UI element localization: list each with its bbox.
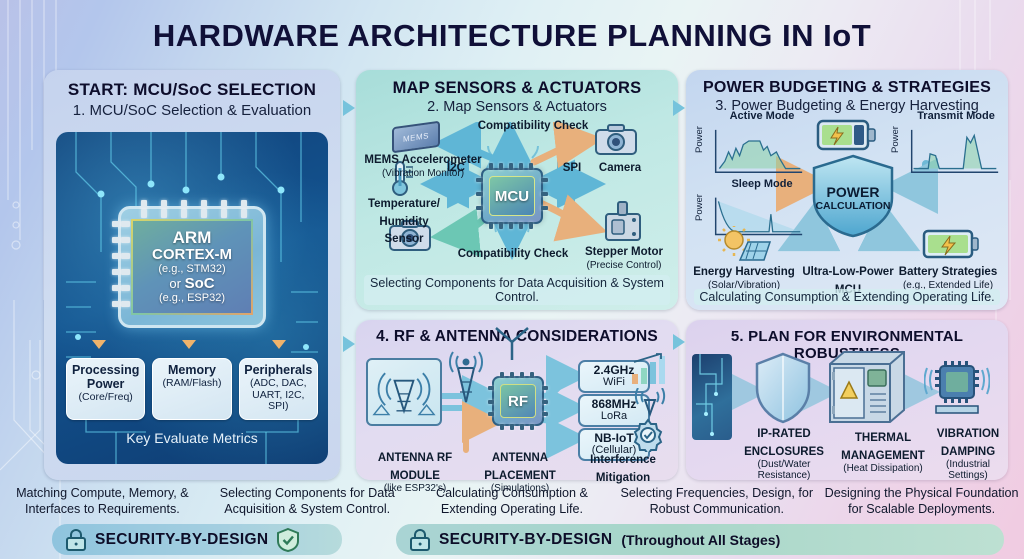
p4-node-1-title: ANTENNA PLACEMENT bbox=[484, 452, 556, 482]
caption-4: Designing the Physical Foundation for Sc… bbox=[819, 484, 1024, 520]
node-0-title: MEMS Accelerometer bbox=[364, 154, 481, 166]
label-ip-rated-enclosures: IP-RATED ENCLOSURES (Dust/Water Resistan… bbox=[732, 424, 836, 481]
panel-power-budgeting[interactable]: POWER BUDGETING & STRATEGIES 3. Power Bu… bbox=[686, 70, 1008, 310]
graph-active-mode: Active Mode Power bbox=[698, 122, 804, 184]
center-mcu-label: MCU bbox=[483, 170, 541, 222]
graph-1-title: Transmit Mode bbox=[910, 110, 1002, 122]
panel3-caption: Calculating Consumption & Extending Oper… bbox=[694, 289, 1000, 305]
security-left-label: SECURITY-BY-DESIGN bbox=[95, 531, 268, 549]
security-by-design-left[interactable]: ● SECURITY-BY-DESIGN bbox=[52, 524, 342, 555]
energy-harvesting-icon bbox=[718, 226, 774, 264]
metric-1-sub: (RAM/Flash) bbox=[156, 378, 227, 390]
p5-node-2-title: VIBRATION DAMPING bbox=[937, 428, 999, 458]
p5-node-2-sub: (Industrial Settings) bbox=[930, 459, 1006, 481]
label-stepper-motor: Stepper Motor (Precise Control) bbox=[576, 242, 672, 271]
graph-1-axis: Power bbox=[890, 126, 901, 153]
graph-0-axis: Power bbox=[694, 126, 705, 153]
panel2-heading: MAP SENSORS & ACTUATORS bbox=[356, 79, 678, 98]
label-camera: Camera bbox=[588, 158, 652, 176]
p4-node-2-title: Interference Mitigation bbox=[590, 454, 656, 484]
whip-antenna-icon bbox=[482, 326, 542, 362]
graph-2-title: Sleep Mode bbox=[720, 178, 804, 190]
mcu-chip: ARM CORTEX-M (e.g., STM32) or SoC (e.g.,… bbox=[118, 206, 266, 328]
panel5-diagram: IP-RATED ENCLOSURES (Dust/Water Resistan… bbox=[692, 348, 1002, 474]
broadcast-icon bbox=[632, 388, 668, 418]
label-energy-harvesting: Energy Harvesting (Solar/Vibration) bbox=[688, 262, 800, 291]
rf-chip-label: RF bbox=[494, 378, 542, 424]
chip-soc-prefix: or bbox=[169, 276, 184, 291]
vibration-damping-icon bbox=[924, 356, 990, 422]
chip-line-esp32: (e.g., ESP32) bbox=[159, 292, 225, 305]
node-2-title: Camera bbox=[599, 162, 641, 174]
arrow-to-processing-power bbox=[92, 340, 106, 349]
page-title: HARDWARE ARCHITECTURE PLANNING IN IoT bbox=[0, 18, 1024, 54]
security-right-label: SECURITY-BY-DESIGN bbox=[439, 531, 612, 549]
chip-line-stm32: (e.g., STM32) bbox=[158, 263, 225, 276]
metric-2-sub: (ADC, DAC, UART, I2C, SPI) bbox=[243, 378, 314, 413]
arrow-to-memory bbox=[182, 340, 196, 349]
signal-bars-icon bbox=[630, 352, 670, 386]
caption-1: Selecting Components for Data Acquisitio… bbox=[205, 484, 410, 520]
node-3-title: Stepper Motor bbox=[585, 246, 663, 258]
power-calculation-shield: POWER CALCULATION bbox=[810, 154, 896, 238]
node-1-title: Temperature/ Humidity Sensor bbox=[368, 198, 440, 245]
flow-arrow-to-panel5 bbox=[673, 334, 685, 350]
panel2-subheading: 2. Map Sensors & Actuators bbox=[356, 99, 678, 115]
metric-memory[interactable]: Memory (RAM/Flash) bbox=[152, 358, 231, 420]
flow-arrow-to-panel4 bbox=[343, 336, 355, 352]
label-thermal-management: THERMAL MANAGEMENT (Heat Dissipation) bbox=[832, 428, 934, 474]
panel2-caption: Selecting Components for Data Acquisitio… bbox=[364, 275, 670, 305]
label-bus-spi: SPI bbox=[552, 162, 592, 175]
infographic-page: HARDWARE ARCHITECTURE PLANNING IN IoT ST… bbox=[0, 0, 1024, 559]
panel3-diagram: Active Mode Power Transmit Mode Power Sl… bbox=[692, 122, 1002, 284]
graph-2-axis: Power bbox=[694, 194, 705, 221]
panel1-subheading: 1. MCU/SoC Selection & Evaluation bbox=[44, 102, 340, 119]
ip-rated-shield-icon bbox=[754, 352, 812, 424]
caption-strip: Matching Compute, Memory, & Interfaces t… bbox=[0, 484, 1024, 520]
lock-icon: ● bbox=[66, 529, 86, 551]
shield-check-icon bbox=[277, 528, 299, 552]
panel-environmental-robustness[interactable]: 5. PLAN FOR ENVIRONMENTAL ROBUSTNESS bbox=[686, 320, 1008, 480]
power-calc-line1: POWER bbox=[827, 184, 880, 200]
security-by-design-right[interactable]: ● SECURITY-BY-DESIGN (Throughout All Sta… bbox=[396, 524, 1004, 555]
metric-2-title: Peripherals bbox=[243, 364, 314, 378]
mcu-board-illustration: ARM CORTEX-M (e.g., STM32) or SoC (e.g.,… bbox=[56, 132, 328, 464]
metric-0-sub: (Core/Freq) bbox=[70, 392, 141, 404]
chip-line-soc: or SoC bbox=[169, 275, 214, 292]
chip-line-arm: ARM bbox=[173, 229, 212, 247]
stepper-motor-icon bbox=[598, 200, 650, 244]
metric-0-title: Processing Power bbox=[70, 364, 141, 392]
footer-bar: ● SECURITY-BY-DESIGN ● SECURITY-BY-DESIG… bbox=[0, 520, 1024, 559]
label-compatibility-check-top: Compatibility Check bbox=[458, 120, 608, 133]
circuit-board-strip-icon bbox=[692, 354, 732, 440]
battery-icon bbox=[816, 116, 878, 154]
label-compatibility-check-bottom: Compatibility Check bbox=[438, 248, 588, 261]
panel-rf-antenna[interactable]: 4. RF & ANTENNA CONSIDERATIONS bbox=[356, 320, 678, 480]
panel1-heading: START: MCU/SoC SELECTION bbox=[44, 80, 340, 100]
chip-line-cortex: CORTEX-M bbox=[152, 247, 232, 263]
node-0-sub: (Vibration Monitor) bbox=[358, 168, 488, 179]
p5-node-0-title: IP-RATED ENCLOSURES bbox=[744, 428, 824, 458]
metric-processing-power[interactable]: Processing Power (Core/Freq) bbox=[66, 358, 145, 420]
panel-map-sensors-actuators[interactable]: MAP SENSORS & ACTUATORS 2. Map Sensors &… bbox=[356, 70, 678, 310]
rf-chip: RF bbox=[492, 376, 544, 426]
security-right-note: (Throughout All Stages) bbox=[621, 532, 780, 548]
mems-chip-text: MEMS bbox=[403, 131, 429, 144]
power-calc-line2: CALCULATION bbox=[815, 200, 890, 212]
flow-arrow-to-panel2 bbox=[343, 100, 355, 116]
node-3-sub: (Precise Control) bbox=[576, 260, 672, 271]
battery-strategies-icon bbox=[922, 226, 980, 262]
interference-mitigation-gear-icon bbox=[630, 418, 666, 452]
antenna-tower-box bbox=[366, 358, 442, 426]
metric-1-title: Memory bbox=[156, 364, 227, 378]
label-battery-strategies: Battery Strategies (e.g., Extended Life) bbox=[892, 262, 1004, 291]
p5-node-1-sub: (Heat Dissipation) bbox=[832, 463, 934, 474]
panel3-heading: POWER BUDGETING & STRATEGIES bbox=[686, 79, 1008, 97]
metric-peripherals[interactable]: Peripherals (ADC, DAC, UART, I2C, SPI) bbox=[239, 358, 318, 420]
caption-3: Selecting Frequencies, Design, for Robus… bbox=[614, 484, 819, 520]
flow-arrow-to-panel3 bbox=[673, 100, 685, 116]
p5-node-0-sub: (Dust/Water Resistance) bbox=[732, 459, 836, 481]
p3-node-0-title: Energy Harvesting bbox=[693, 266, 795, 278]
arrow-to-peripherals bbox=[272, 340, 286, 349]
label-temperature-humidity-sensor: Temperature/ Humidity Sensor bbox=[360, 194, 448, 247]
caption-0: Matching Compute, Memory, & Interfaces t… bbox=[0, 484, 205, 520]
p5-node-1-title: THERMAL MANAGEMENT bbox=[841, 432, 925, 462]
graph-0-title: Active Mode bbox=[720, 110, 804, 122]
thermal-enclosure-icon bbox=[824, 348, 910, 430]
key-metrics-row: Processing Power (Core/Freq) Memory (RAM… bbox=[66, 358, 318, 420]
key-evaluate-metrics-label: Key Evaluate Metrics bbox=[56, 430, 328, 446]
panel4-diagram: RF bbox=[362, 350, 672, 474]
label-mems-accelerometer: MEMS Accelerometer (Vibration Monitor) bbox=[358, 150, 488, 179]
chip-label-block: ARM CORTEX-M (e.g., STM32) or SoC (e.g.,… bbox=[131, 219, 253, 315]
caption-2: Calculating Consumption & Extending Oper… bbox=[410, 484, 615, 520]
label-vibration-damping: VIBRATION DAMPING (Industrial Settings) bbox=[930, 424, 1006, 481]
p4-node-0-title: ANTENNA RF MODULE bbox=[378, 452, 452, 482]
chip-soc-bold: SoC bbox=[185, 275, 215, 292]
lock-icon-right: ● bbox=[410, 529, 430, 551]
center-mcu-chip: MCU bbox=[481, 168, 543, 224]
label-interference-mitigation: Interference Mitigation bbox=[574, 450, 672, 485]
p3-node-2-title: Battery Strategies bbox=[899, 266, 997, 278]
panel-mcu-selection[interactable]: START: MCU/SoC SELECTION 1. MCU/SoC Sele… bbox=[44, 70, 340, 480]
graph-transmit-mode: Transmit Mode Power bbox=[892, 122, 1002, 184]
panel2-diagram: MCU bbox=[362, 122, 672, 284]
